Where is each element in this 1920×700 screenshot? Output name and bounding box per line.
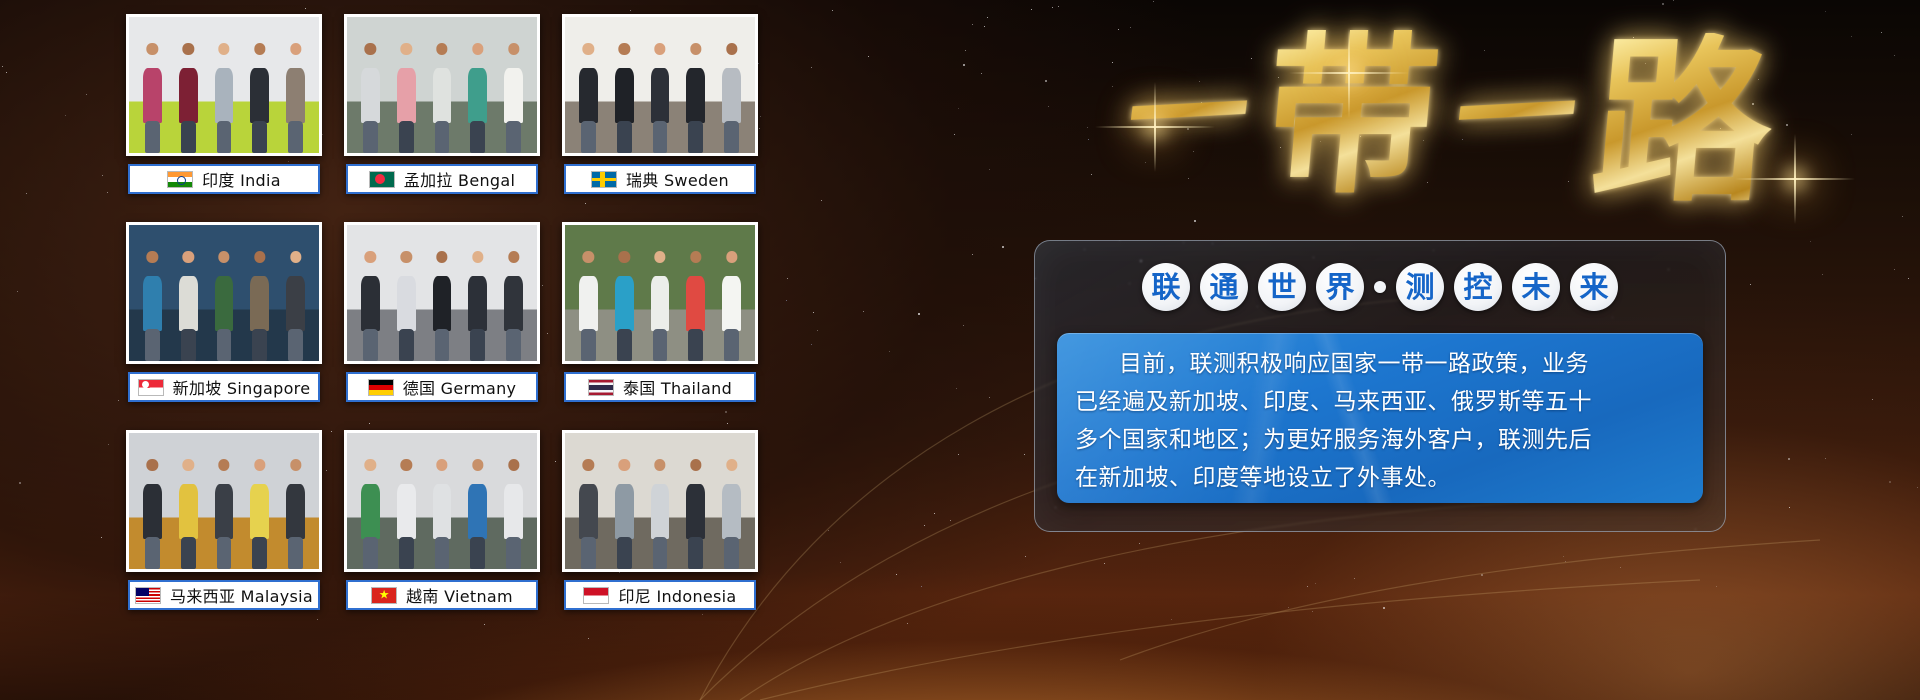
person-head <box>254 251 265 262</box>
person-legs <box>653 537 668 569</box>
star-icon <box>17 291 18 292</box>
star-icon <box>1251 58 1252 59</box>
star-icon <box>1171 619 1172 620</box>
photo-frame <box>344 222 540 364</box>
country-photo <box>347 225 537 361</box>
country-photo-card[interactable]: 瑞典 Sweden <box>562 14 758 194</box>
person-body <box>468 276 487 331</box>
person-legs <box>617 121 632 153</box>
person-head <box>726 251 737 262</box>
photo-frame <box>126 14 322 156</box>
star-icon <box>950 520 951 521</box>
person-body <box>722 68 741 123</box>
star-icon <box>1484 50 1485 51</box>
person-head <box>147 459 158 470</box>
country-label[interactable]: 泰国 Thailand <box>564 372 756 402</box>
star-icon <box>1360 136 1361 137</box>
person-silhouette <box>501 39 526 153</box>
person-head <box>619 251 630 262</box>
star-icon <box>1563 556 1564 557</box>
country-photo <box>565 17 755 153</box>
star-icon <box>1902 216 1903 217</box>
person-silhouette <box>683 455 708 569</box>
person-body <box>179 276 198 331</box>
sparkle-icon <box>1348 72 1350 74</box>
photo-people <box>129 247 319 361</box>
person-head <box>654 43 665 54</box>
person-body <box>143 484 162 539</box>
star-icon <box>1894 55 1895 56</box>
country-label[interactable]: 孟加拉 Bengal <box>346 164 538 194</box>
country-photo-card[interactable]: 印尼 Indonesia <box>562 430 758 610</box>
country-photo <box>129 17 319 153</box>
star-icon <box>1881 32 1882 33</box>
star-icon <box>702 614 703 615</box>
star-icon <box>889 351 890 352</box>
person-legs <box>145 329 160 361</box>
photo-frame <box>562 430 758 572</box>
slogan-char: 测 <box>1396 263 1444 311</box>
person-legs <box>288 537 303 569</box>
person-body <box>504 276 523 331</box>
person-head <box>218 459 229 470</box>
person-legs <box>506 121 521 153</box>
person-body <box>504 484 523 539</box>
person-body <box>215 68 234 123</box>
star-icon <box>954 134 955 135</box>
country-photo-card[interactable]: 泰国 Thailand <box>562 222 758 402</box>
person-body <box>579 484 598 539</box>
star-icon <box>1112 62 1113 63</box>
person-head <box>583 43 594 54</box>
person-body <box>433 484 452 539</box>
person-legs <box>363 121 378 153</box>
person-body <box>179 484 198 539</box>
star-icon <box>821 200 822 201</box>
country-label[interactable]: 印尼 Indonesia <box>564 580 756 610</box>
star-icon <box>907 623 908 624</box>
star-icon <box>1565 561 1566 562</box>
star-icon <box>317 619 318 620</box>
person-legs <box>363 329 378 361</box>
person-silhouette <box>247 39 272 153</box>
person-body <box>250 276 269 331</box>
person-silhouette <box>176 455 201 569</box>
person-body <box>250 68 269 123</box>
country-label-text: 新加坡 Singapore <box>173 375 311 399</box>
sparkle-icon <box>1794 178 1796 180</box>
person-silhouette <box>576 39 601 153</box>
star-icon <box>1752 103 1754 105</box>
person-head <box>726 459 737 470</box>
country-label[interactable]: 马来西亚 Malaysia <box>128 580 320 610</box>
star-icon <box>1307 586 1308 587</box>
person-head <box>254 43 265 54</box>
person-silhouette <box>683 247 708 361</box>
person-head <box>508 43 519 54</box>
bangladesh-flag <box>369 171 395 188</box>
star-icon <box>972 24 973 25</box>
person-legs <box>217 329 232 361</box>
star-icon <box>987 17 988 18</box>
person-silhouette <box>212 247 237 361</box>
star-icon <box>863 311 864 312</box>
person-legs <box>252 329 267 361</box>
person-silhouette <box>576 455 601 569</box>
slogan-char: 来 <box>1570 263 1618 311</box>
thailand-flag <box>588 379 614 396</box>
person-legs <box>653 329 668 361</box>
person-silhouette <box>719 247 744 361</box>
person-head <box>472 251 483 262</box>
photo-frame <box>344 430 540 572</box>
calligraphy-title: 一 带 一 路 <box>1010 8 1890 223</box>
star-icon <box>989 397 990 398</box>
star-icon <box>1278 77 1279 78</box>
star-icon <box>958 108 959 109</box>
star-icon <box>1408 95 1409 96</box>
person-silhouette <box>648 455 673 569</box>
person-head <box>218 43 229 54</box>
star-icon <box>630 10 631 11</box>
photo-frame <box>344 14 540 156</box>
person-body <box>433 276 452 331</box>
person-body <box>250 484 269 539</box>
person-body <box>468 484 487 539</box>
country-photo-card[interactable]: 德国 Germany <box>344 222 540 402</box>
star-icon <box>1462 139 1463 140</box>
photo-people <box>347 247 537 361</box>
person-head <box>147 43 158 54</box>
star-icon <box>1568 181 1569 182</box>
photo-people <box>565 39 755 153</box>
person-body <box>651 68 670 123</box>
person-silhouette <box>247 247 272 361</box>
indonesia-flag <box>583 587 609 604</box>
person-silhouette <box>576 247 601 361</box>
person-body <box>579 276 598 331</box>
star-icon <box>868 56 869 57</box>
person-head <box>401 43 412 54</box>
star-icon <box>924 525 925 526</box>
person-head <box>290 459 301 470</box>
photo-people <box>129 455 319 569</box>
country-photo-card[interactable]: 马来西亚 Malaysia <box>126 430 322 610</box>
person-body <box>361 68 380 123</box>
person-silhouette <box>212 39 237 153</box>
person-legs <box>217 537 232 569</box>
star-icon <box>107 192 108 193</box>
star-icon <box>1633 37 1634 38</box>
person-legs <box>288 329 303 361</box>
star-icon <box>896 574 897 575</box>
person-head <box>365 251 376 262</box>
star-icon <box>840 562 841 563</box>
country-label[interactable]: 越南 Vietnam <box>346 580 538 610</box>
star-icon <box>758 63 759 64</box>
country-photo <box>565 225 755 361</box>
person-body <box>468 68 487 123</box>
person-body <box>179 68 198 123</box>
person-head <box>619 459 630 470</box>
person-body <box>579 68 598 123</box>
star-icon <box>1199 81 1200 82</box>
star-icon <box>1087 127 1088 128</box>
star-icon <box>1851 134 1852 135</box>
country-photo-card[interactable]: 印度 India <box>126 14 322 194</box>
person-legs <box>506 537 521 569</box>
person-legs <box>399 537 414 569</box>
description-line: 已经遍及新加坡、印度、马来西亚、俄罗斯等五十 <box>1075 383 1685 421</box>
person-legs <box>724 329 739 361</box>
star-icon <box>1889 481 1891 483</box>
star-icon <box>1031 9 1032 10</box>
star-icon <box>1193 151 1194 152</box>
person-legs <box>506 329 521 361</box>
person-body <box>433 68 452 123</box>
person-silhouette <box>612 39 637 153</box>
country-photo-grid: 印度 India孟加拉 Bengal瑞典 Sweden新加坡 Singapore… <box>126 14 758 586</box>
country-label-text: 瑞典 Sweden <box>626 167 729 191</box>
person-body <box>361 276 380 331</box>
photo-frame <box>562 222 758 364</box>
singapore-flag <box>138 379 164 396</box>
person-legs <box>688 537 703 569</box>
star-icon <box>921 586 922 587</box>
star-icon <box>832 10 833 11</box>
photo-frame <box>126 222 322 364</box>
person-body <box>651 484 670 539</box>
person-legs <box>435 121 450 153</box>
photo-people <box>129 39 319 153</box>
person-head <box>365 459 376 470</box>
star-icon <box>817 330 818 331</box>
star-icon <box>1427 182 1428 183</box>
country-label-text: 越南 Vietnam <box>406 583 513 607</box>
star-icon <box>760 116 761 117</box>
country-label-text: 泰国 Thailand <box>623 375 732 399</box>
person-silhouette <box>140 247 165 361</box>
person-legs <box>688 121 703 153</box>
person-body <box>286 68 305 123</box>
sparkle-icon <box>1154 126 1156 128</box>
star-icon <box>1662 3 1664 5</box>
person-head <box>654 459 665 470</box>
star-icon <box>1058 6 1059 7</box>
star-icon <box>1825 11 1826 12</box>
star-icon <box>1786 124 1788 126</box>
person-body <box>215 276 234 331</box>
country-photo-card[interactable]: 越南 Vietnam <box>344 430 540 610</box>
person-legs <box>581 121 596 153</box>
country-photo-card[interactable]: 新加坡 Singapore <box>126 222 322 402</box>
description-line: 目前，联测积极响应国家一带一路政策，业务 <box>1075 345 1685 383</box>
star-icon <box>1315 583 1316 584</box>
person-legs <box>252 537 267 569</box>
country-label[interactable]: 印度 India <box>128 164 320 194</box>
person-head <box>508 459 519 470</box>
star-icon <box>1024 454 1025 455</box>
person-body <box>615 276 634 331</box>
person-head <box>401 459 412 470</box>
person-legs <box>581 329 596 361</box>
star-icon <box>972 254 973 255</box>
person-head <box>183 251 194 262</box>
person-silhouette <box>394 455 419 569</box>
star-icon <box>1312 611 1313 612</box>
person-head <box>726 43 737 54</box>
country-photo <box>565 433 755 569</box>
person-silhouette <box>430 455 455 569</box>
person-body <box>651 276 670 331</box>
person-body <box>615 68 634 123</box>
calligraphy-char-4: 路 <box>1586 33 1780 211</box>
description-box: 目前，联测积极响应国家一带一路政策，业务 已经遍及新加坡、印度、马来西亚、俄罗斯… <box>1057 333 1703 503</box>
star-icon <box>1130 27 1131 28</box>
star-icon <box>1045 80 1047 82</box>
slogan-char: 联 <box>1142 263 1190 311</box>
star-icon <box>1851 36 1852 37</box>
star-icon <box>1822 274 1823 275</box>
star-icon <box>1194 220 1196 222</box>
person-legs <box>181 537 196 569</box>
person-legs <box>581 537 596 569</box>
person-silhouette <box>501 455 526 569</box>
star-icon <box>787 278 788 279</box>
star-icon <box>588 638 589 639</box>
photo-people <box>347 39 537 153</box>
description-line: 在新加坡、印度等地设立了外事处。 <box>1075 459 1685 497</box>
star-icon <box>108 444 109 445</box>
person-head <box>436 251 447 262</box>
person-body <box>686 276 705 331</box>
banner-stage: 印度 India孟加拉 Bengal瑞典 Sweden新加坡 Singapore… <box>0 0 1920 700</box>
slogan-char: 通 <box>1200 263 1248 311</box>
country-label-text: 印度 India <box>202 167 281 191</box>
person-head <box>583 459 594 470</box>
person-body <box>686 484 705 539</box>
country-label[interactable]: 德国 Germany <box>346 372 538 402</box>
person-silhouette <box>140 455 165 569</box>
person-head <box>218 251 229 262</box>
country-photo <box>347 17 537 153</box>
star-icon <box>26 193 27 194</box>
description-line: 联测，为国产仪表正名，为中国制造加分！ <box>1075 497 1685 503</box>
person-legs <box>145 121 160 153</box>
person-head <box>290 43 301 54</box>
person-head <box>183 43 194 54</box>
star-icon <box>1088 139 1089 140</box>
star-icon <box>1673 0 1674 1</box>
person-body <box>397 276 416 331</box>
star-icon <box>1716 586 1717 587</box>
person-silhouette <box>501 247 526 361</box>
person-silhouette <box>430 247 455 361</box>
person-legs <box>435 537 450 569</box>
person-silhouette <box>648 247 673 361</box>
star-icon <box>1894 269 1895 270</box>
person-legs <box>363 537 378 569</box>
star-icon <box>963 325 964 326</box>
india-flag <box>167 171 193 188</box>
person-legs <box>181 121 196 153</box>
person-legs <box>252 121 267 153</box>
star-icon <box>1620 567 1621 568</box>
person-legs <box>399 329 414 361</box>
star-icon <box>1789 507 1790 508</box>
photo-frame <box>126 430 322 572</box>
person-legs <box>470 329 485 361</box>
person-legs <box>617 329 632 361</box>
star-icon <box>759 128 760 129</box>
malaysia-flag <box>135 587 161 604</box>
person-silhouette <box>465 39 490 153</box>
person-silhouette <box>394 247 419 361</box>
country-label-text: 马来西亚 Malaysia <box>170 583 313 607</box>
person-silhouette <box>358 39 383 153</box>
person-silhouette <box>247 455 272 569</box>
country-label[interactable]: 新加坡 Singapore <box>128 372 320 402</box>
slogan-char: 控 <box>1454 263 1502 311</box>
person-legs <box>470 121 485 153</box>
photo-people <box>565 247 755 361</box>
star-icon <box>989 169 990 170</box>
star-icon <box>934 513 935 514</box>
star-icon <box>1188 178 1189 179</box>
person-legs <box>288 121 303 153</box>
country-photo-card[interactable]: 孟加拉 Bengal <box>344 14 540 194</box>
star-icon <box>981 73 982 74</box>
vietnam-flag <box>371 587 397 604</box>
person-body <box>286 484 305 539</box>
person-silhouette <box>358 455 383 569</box>
person-head <box>583 251 594 262</box>
person-body <box>286 276 305 331</box>
person-silhouette <box>212 455 237 569</box>
person-silhouette <box>394 39 419 153</box>
person-body <box>143 276 162 331</box>
person-head <box>472 43 483 54</box>
person-silhouette <box>430 39 455 153</box>
star-icon <box>1139 543 1140 544</box>
star-icon <box>1398 42 1399 43</box>
slogan-char: 世 <box>1258 263 1306 311</box>
star-icon <box>1048 106 1049 107</box>
star-icon <box>956 388 957 389</box>
star-icon <box>1288 607 1289 608</box>
star-icon <box>958 454 959 455</box>
country-label[interactable]: 瑞典 Sweden <box>564 164 756 194</box>
person-silhouette <box>283 39 308 153</box>
star-icon <box>1187 128 1189 130</box>
star-icon <box>118 400 119 401</box>
person-legs <box>724 537 739 569</box>
star-icon <box>1145 162 1146 163</box>
person-body <box>143 68 162 123</box>
star-icon <box>1118 29 1119 30</box>
star-icon <box>19 482 21 484</box>
star-icon <box>918 313 920 315</box>
person-silhouette <box>648 39 673 153</box>
person-head <box>147 251 158 262</box>
person-silhouette <box>283 455 308 569</box>
star-icon <box>828 530 829 531</box>
star-icon <box>2 66 3 67</box>
star-icon <box>484 624 485 625</box>
person-head <box>436 459 447 470</box>
person-legs <box>217 121 232 153</box>
slogan-separator-dot <box>1374 281 1386 293</box>
